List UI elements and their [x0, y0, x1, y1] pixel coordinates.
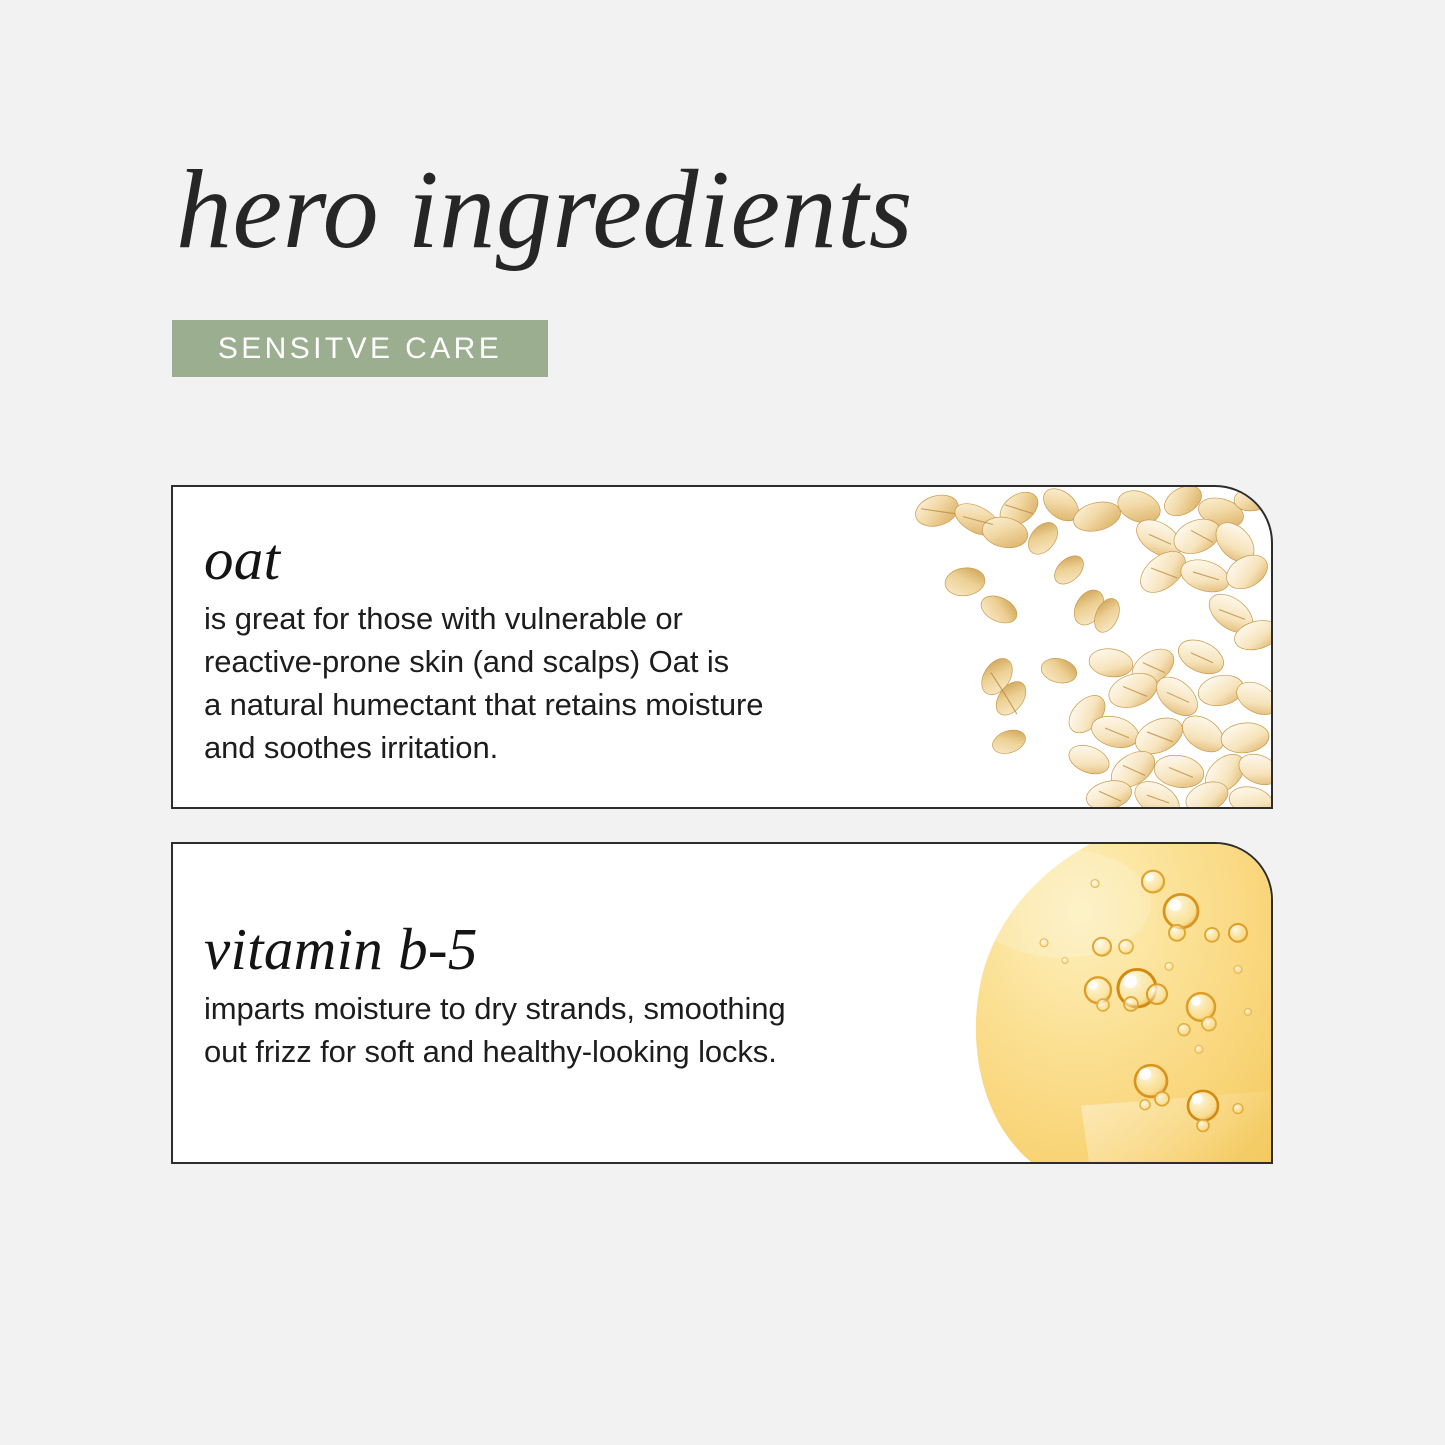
description-line: reactive-prone skin (and scalps) Oat is	[204, 640, 924, 683]
ingredient-description-oat: is great for those with vulnerable or re…	[204, 597, 924, 769]
ingredient-card-oat: oat is great for those with vulnerable o…	[171, 485, 1273, 809]
category-badge-label: SENSITVE CARE	[218, 334, 502, 364]
category-badge: SENSITVE CARE	[172, 320, 548, 377]
description-line: and soothes irritation.	[204, 726, 924, 769]
oat-card-text: oat is great for those with vulnerable o…	[204, 529, 924, 769]
description-line: is great for those with vulnerable or	[204, 597, 924, 640]
vitamin-b5-card-text: vitamin b-5 imparts moisture to dry stra…	[204, 919, 964, 1073]
ingredient-name-vitamin-b5: vitamin b-5	[204, 919, 964, 981]
ingredient-description-vitamin-b5: imparts moisture to dry strands, smoothi…	[204, 987, 964, 1073]
description-line: a natural humectant that retains moistur…	[204, 683, 924, 726]
description-line: imparts moisture to dry strands, smoothi…	[204, 987, 964, 1030]
ingredient-name-oat: oat	[204, 529, 924, 591]
page-title: hero ingredients	[176, 148, 1276, 273]
description-line: out frizz for soft and healthy-looking l…	[204, 1030, 964, 1073]
oat-flakes-icon	[901, 487, 1271, 807]
ingredient-card-vitamin-b5: vitamin b-5 imparts moisture to dry stra…	[171, 842, 1273, 1164]
hero-ingredients-page: hero ingredients SENSITVE CARE	[0, 0, 1445, 1445]
golden-gel-icon	[971, 844, 1271, 1162]
